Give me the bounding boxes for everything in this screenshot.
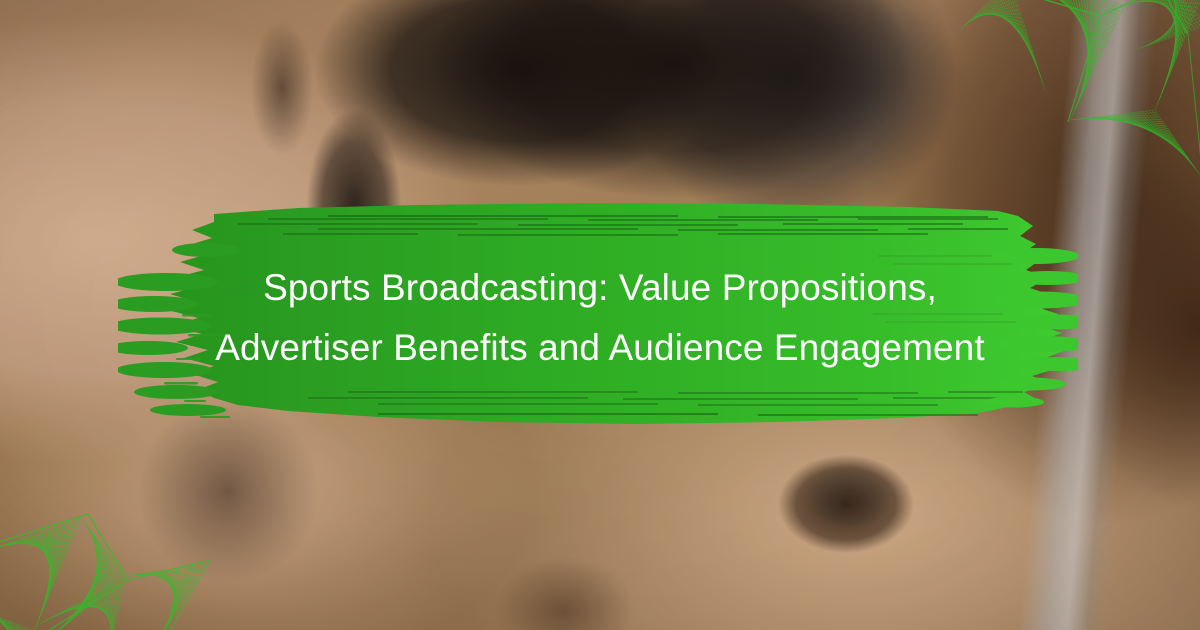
banner-title: Sports Broadcasting: Value Propositions,… — [150, 258, 1050, 378]
title-line-2: Advertiser Benefits and Audience Engagem… — [150, 318, 1050, 378]
banner-canvas: Sports Broadcasting: Value Propositions,… — [0, 0, 1200, 630]
title-line-1: Sports Broadcasting: Value Propositions, — [150, 258, 1050, 318]
